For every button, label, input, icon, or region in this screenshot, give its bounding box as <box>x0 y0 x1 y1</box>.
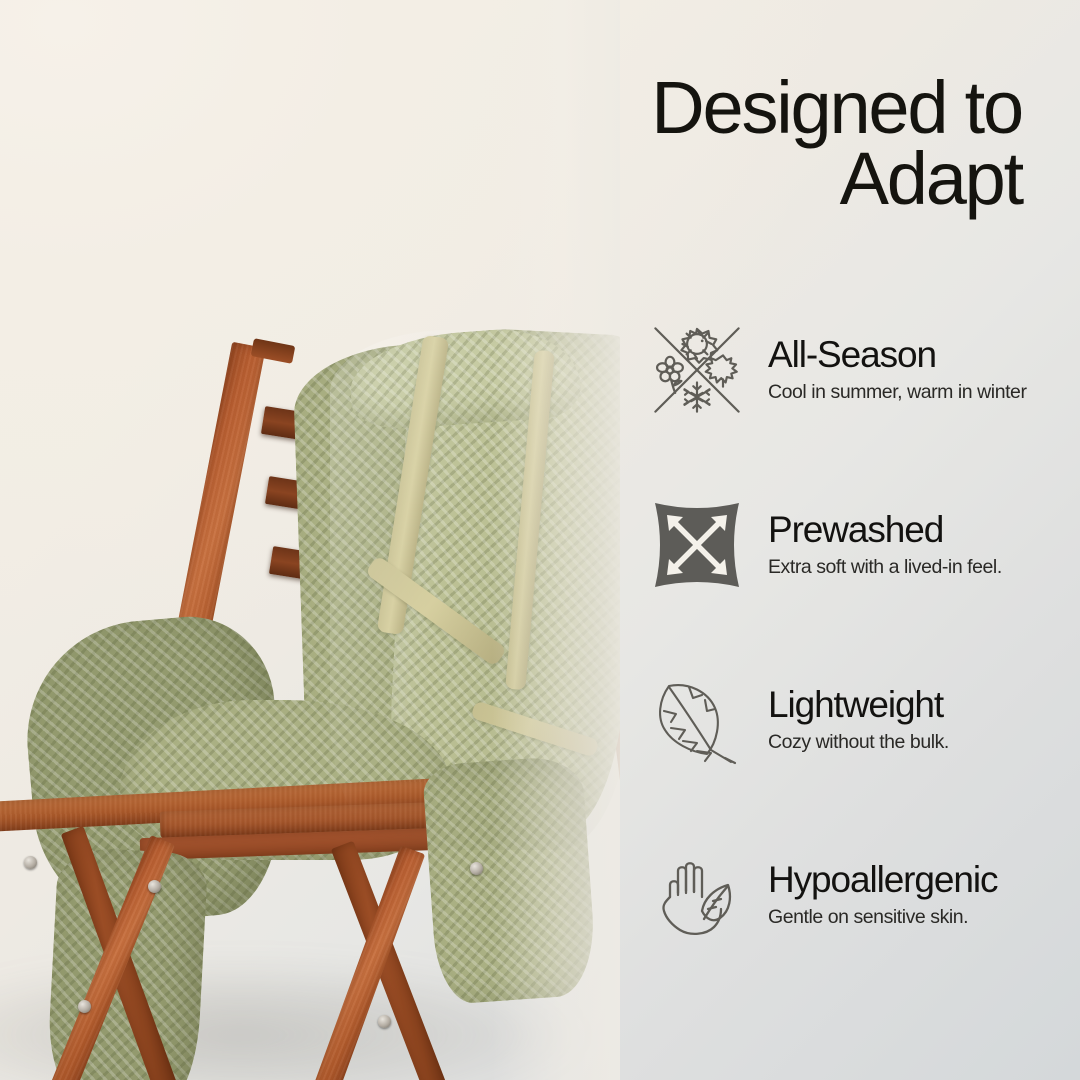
feature-item-all-season: All-Season Cool in summer, warm in winte… <box>638 310 1058 430</box>
feature-text-lightweight: Lightweight Cozy without the bulk. <box>756 686 949 754</box>
feature-title: All-Season <box>768 336 1027 374</box>
hand-leaf-icon <box>638 840 756 950</box>
infographic-canvas: Designed to Adapt <box>0 0 1080 1080</box>
feature-subtitle: Cozy without the bulk. <box>768 730 949 754</box>
feature-title: Prewashed <box>768 511 1002 549</box>
feature-title: Lightweight <box>768 686 949 724</box>
chair-pivot-bolt <box>470 862 483 875</box>
feature-subtitle: Extra soft with a lived-in feel. <box>768 555 1002 579</box>
chair-pivot-bolt <box>378 1015 391 1028</box>
chair-pivot-bolt <box>78 1000 91 1013</box>
chair-pivot-bolt <box>148 880 161 893</box>
blanket-tail-right <box>422 755 598 1006</box>
prewashed-fabric-icon <box>638 490 756 600</box>
headline-line-1: Designed to <box>602 72 1022 143</box>
feature-text-hypoallergenic: Hypoallergenic Gentle on sensitive skin. <box>756 861 997 929</box>
feature-title: Hypoallergenic <box>768 861 997 899</box>
feature-list: All-Season Cool in summer, warm in winte… <box>638 310 1058 955</box>
feature-text-prewashed: Prewashed Extra soft with a lived-in fee… <box>756 511 1002 579</box>
chair-pivot-bolt <box>24 856 37 869</box>
feature-subtitle: Cool in summer, warm in winter <box>768 380 1027 404</box>
feature-subtitle: Gentle on sensitive skin. <box>768 905 997 929</box>
headline-line-2: Adapt <box>602 143 1022 214</box>
feature-item-hypoallergenic: Hypoallergenic Gentle on sensitive skin. <box>638 835 1058 955</box>
product-photo <box>0 0 620 1080</box>
page-title: Designed to Adapt <box>602 72 1022 214</box>
four-seasons-icon <box>638 315 756 425</box>
feature-item-lightweight: Lightweight Cozy without the bulk. <box>638 660 1058 780</box>
feature-item-prewashed: Prewashed Extra soft with a lived-in fee… <box>638 485 1058 605</box>
feather-icon <box>638 665 756 775</box>
feature-text-all-season: All-Season Cool in summer, warm in winte… <box>756 336 1027 404</box>
